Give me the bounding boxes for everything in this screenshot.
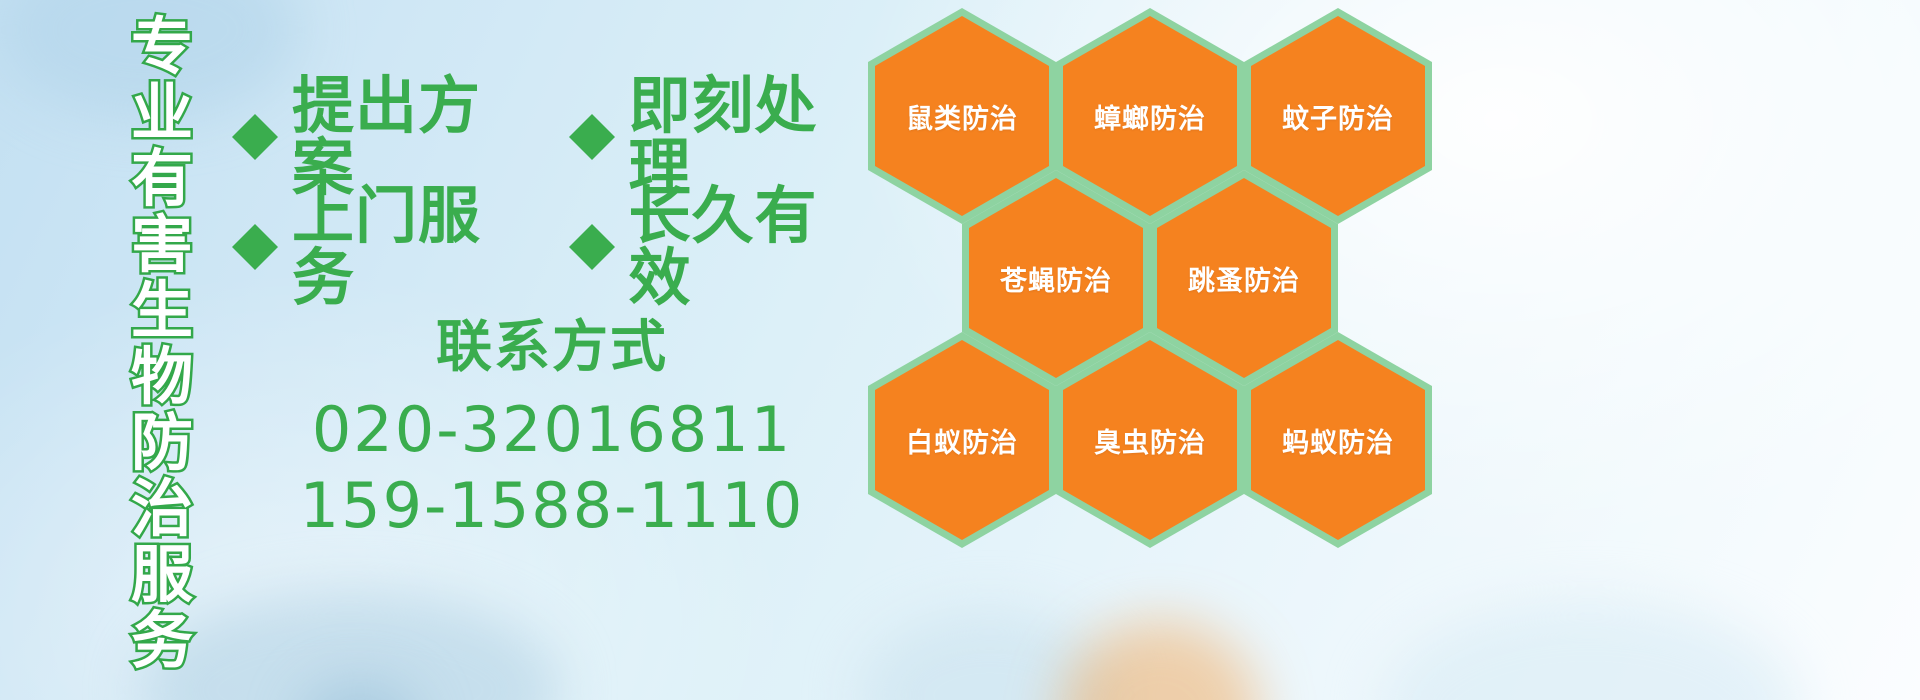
contact-block: 联系方式 020-32016811 159-1588-1110 [232, 312, 872, 544]
background-blob [1380, 600, 1800, 700]
vertical-title-char: 专 [131, 14, 193, 80]
background-blob [1060, 620, 1260, 700]
vertical-title: 专 业 有 害 生 物 防 治 服 务 [108, 14, 216, 680]
slogan-label: 长久有效 [629, 185, 872, 309]
slogan-list: 提出方案 即刻处理 上门服务 长久有效 [232, 82, 872, 302]
hex-inner: 蚂蚁防治 [1251, 340, 1425, 540]
service-hex-label: 蚂蚁防治 [1282, 421, 1394, 460]
hex-inner: 跳蚤防治 [1157, 178, 1331, 378]
slogan-item: 上门服务 [232, 185, 535, 309]
contact-label: 联系方式 [232, 312, 872, 384]
service-hex-label: 跳蚤防治 [1188, 259, 1300, 298]
background-blob [300, 680, 420, 700]
service-hex-label: 蚊子防治 [1282, 97, 1394, 136]
vertical-title-char: 务 [131, 608, 193, 674]
hex-inner: 臭虫防治 [1063, 340, 1237, 540]
hex-inner: 白蚁防治 [875, 340, 1049, 540]
background-blob [860, 610, 1120, 700]
service-hex-label: 鼠类防治 [906, 97, 1018, 136]
service-hex-label: 臭虫防治 [1094, 421, 1206, 460]
hex-inner: 鼠类防治 [875, 16, 1049, 216]
vertical-title-char: 业 [131, 80, 193, 146]
hex-inner: 苍蝇防治 [969, 178, 1143, 378]
service-hex-label: 蟑螂防治 [1094, 97, 1206, 136]
service-hex-label: 苍蝇防治 [1000, 259, 1112, 298]
slogan-row: 提出方案 即刻处理 [232, 82, 872, 192]
slogan-row: 上门服务 长久有效 [232, 192, 872, 302]
hex-inner: 蟑螂防治 [1063, 16, 1237, 216]
vertical-title-char: 防 [131, 410, 193, 476]
diamond-icon [569, 201, 615, 247]
phone-number-landline[interactable]: 020-32016811 [232, 392, 872, 468]
vertical-title-char: 有 [131, 146, 193, 212]
diamond-icon [232, 91, 278, 137]
vertical-title-char: 治 [131, 476, 193, 542]
diamond-icon [232, 201, 278, 247]
slogan-item: 长久有效 [569, 185, 872, 309]
vertical-title-char: 物 [131, 344, 193, 410]
vertical-title-char: 害 [131, 212, 193, 278]
phone-number-mobile[interactable]: 159-1588-1110 [232, 468, 872, 544]
hex-inner: 蚊子防治 [1251, 16, 1425, 216]
service-hex-grid: 鼠类防治 蟑螂防治 蚊子防治 苍蝇防治 跳蚤防治 白蚁防治 [862, 0, 1462, 570]
service-hex-label: 白蚁防治 [906, 421, 1018, 460]
vertical-title-char: 服 [131, 542, 193, 608]
pest-control-banner: 专 业 有 害 生 物 防 治 服 务 提出方案 即刻处理 上门服务 [0, 0, 1920, 700]
diamond-icon [569, 91, 615, 137]
slogan-label: 上门服务 [292, 185, 535, 309]
vertical-title-char: 生 [131, 278, 193, 344]
